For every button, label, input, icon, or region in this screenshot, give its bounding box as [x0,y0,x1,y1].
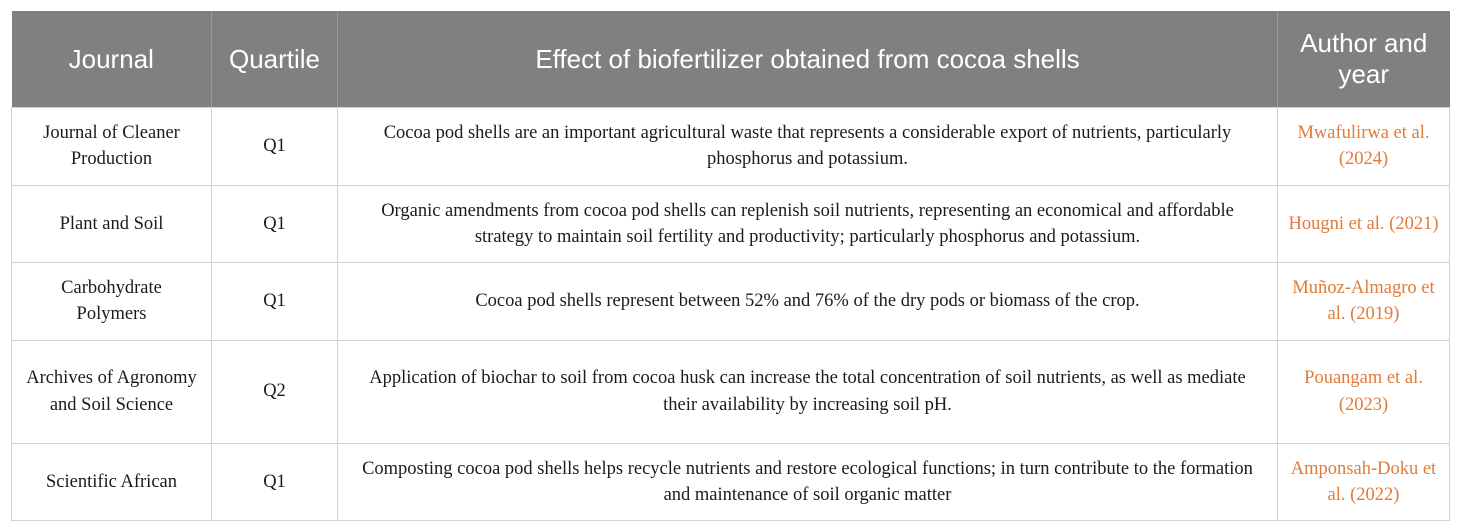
cell-journal: Journal of Cleaner Production [12,108,212,186]
table-row: Plant and Soil Q1 Organic amendments fro… [12,185,1450,263]
header-row: Journal Quartile Effect of biofertilizer… [12,11,1450,108]
cell-quartile: Q1 [212,443,338,521]
literature-review-table: Journal Quartile Effect of biofertilizer… [11,11,1450,521]
table-body: Journal of Cleaner Production Q1 Cocoa p… [12,108,1450,521]
cell-journal: Scientific African [12,443,212,521]
table-row: Archives of Agronomy and Soil Science Q2… [12,340,1450,443]
cell-author: Muñoz-Almagro et al. (2019) [1278,263,1450,341]
cell-quartile: Q1 [212,108,338,186]
cell-quartile: Q1 [212,185,338,263]
cell-author: Mwafulirwa et al. (2024) [1278,108,1450,186]
cell-effect: Organic amendments from cocoa pod shells… [338,185,1278,263]
cell-journal: Plant and Soil [12,185,212,263]
table-container: Journal Quartile Effect of biofertilizer… [0,0,1460,503]
cell-effect: Application of biochar to soil from coco… [338,340,1278,443]
cell-effect: Cocoa pod shells represent between 52% a… [338,263,1278,341]
column-header-author: Author and year [1278,11,1450,108]
cell-effect: Cocoa pod shells are an important agricu… [338,108,1278,186]
table-header: Journal Quartile Effect of biofertilizer… [12,11,1450,108]
cell-author: Pouangam et al. (2023) [1278,340,1450,443]
cell-quartile: Q2 [212,340,338,443]
cell-quartile: Q1 [212,263,338,341]
cell-effect: Composting cocoa pod shells helps recycl… [338,443,1278,521]
table-row: Scientific African Q1 Composting cocoa p… [12,443,1450,521]
column-header-effect: Effect of biofertilizer obtained from co… [338,11,1278,108]
cell-author: Amponsah-Doku et al. (2022) [1278,443,1450,521]
table-row: Journal of Cleaner Production Q1 Cocoa p… [12,108,1450,186]
column-header-quartile: Quartile [212,11,338,108]
cell-journal: Archives of Agronomy and Soil Science [12,340,212,443]
cell-author: Hougni et al. (2021) [1278,185,1450,263]
column-header-journal: Journal [12,11,212,108]
cell-journal: Carbohydrate Polymers [12,263,212,341]
table-row: Carbohydrate Polymers Q1 Cocoa pod shell… [12,263,1450,341]
